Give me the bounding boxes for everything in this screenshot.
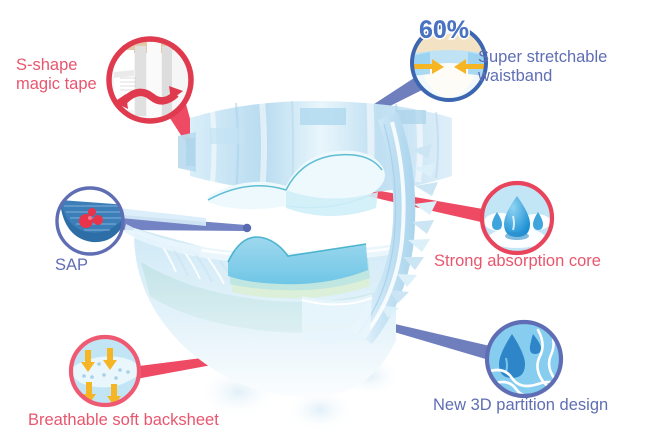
callout-super-stretchable-waistband[interactable]: 60% 60%	[412, 16, 486, 100]
callout-strong-absorption-core[interactable]	[482, 183, 552, 253]
label-new-3d-partition-design: New 3D partition design	[433, 396, 608, 415]
badge-60-percent-fill: 60%	[419, 16, 469, 44]
callout-s-shape-magic-tape[interactable]	[109, 39, 191, 121]
infographic-canvas: 60% 60%	[0, 0, 650, 437]
diaper-cutaway-illustration	[118, 101, 452, 432]
waistband-patch	[300, 108, 346, 125]
tape-tab-stripe	[186, 138, 195, 166]
label-s-shape-magic-tape: S-shape magic tape	[16, 56, 97, 95]
label-strong-absorption-core: Strong absorption core	[434, 252, 601, 271]
label-sap: SAP	[55, 256, 88, 275]
connector-dot-sap	[243, 224, 251, 232]
label-breathable-soft-backsheet: Breathable soft backsheet	[28, 411, 219, 430]
label-super-stretchable-waistband: Super stretchable waistband	[478, 48, 607, 87]
callout-breathable-soft-backsheet[interactable]	[71, 337, 140, 406]
waistband-patch	[210, 128, 244, 144]
callout-new-3d-partition-design[interactable]	[487, 322, 561, 397]
callout-sap[interactable]	[57, 188, 128, 254]
